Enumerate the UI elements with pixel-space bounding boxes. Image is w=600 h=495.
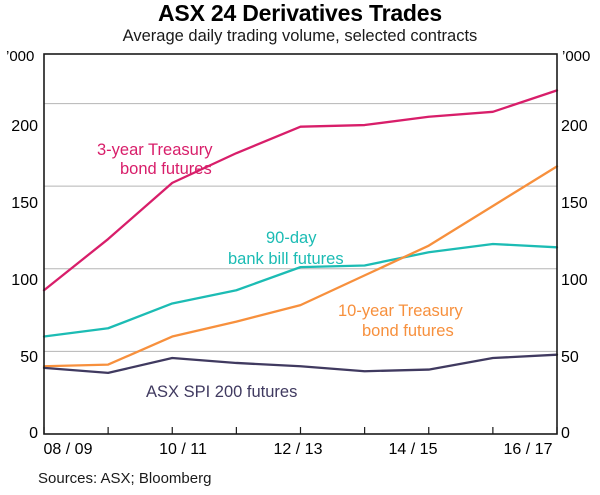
- series-label-3-year-treasury-line2: bond futures: [120, 160, 212, 179]
- y-tick-left-100: 100: [2, 273, 38, 289]
- x-tick-1213: 12 / 13: [253, 441, 343, 459]
- sources-note: Sources: ASX; Bloomberg: [38, 470, 211, 487]
- series-label-10-year-treasury-line2: bond futures: [362, 322, 454, 341]
- series-line-3: [44, 355, 557, 373]
- y-tick-left-50: 50: [2, 350, 38, 366]
- x-tick-1415: 14 / 15: [368, 441, 458, 459]
- x-tick-1011: 10 / 11: [138, 441, 228, 459]
- x-tick-0809: 08 / 09: [23, 441, 113, 459]
- y-tick-right-200: 200: [561, 119, 600, 135]
- series-label-10-year-treasury-line1: 10-year Treasury: [338, 302, 463, 321]
- series-label-asx-spi-200: ASX SPI 200 futures: [146, 383, 297, 402]
- y-tick-right-150: 150: [561, 196, 600, 212]
- y-tick-right-100: 100: [561, 273, 600, 289]
- series-label-90-day-bank-bill-line1: 90-day: [266, 229, 316, 248]
- y-tick-left-200: 200: [2, 119, 38, 135]
- chart-container: ASX 24 Derivatives Trades Average daily …: [0, 0, 600, 495]
- y-tick-right-50: 50: [561, 350, 600, 366]
- y-tick-left-150: 150: [2, 196, 38, 212]
- series-label-90-day-bank-bill-line2: bank bill futures: [228, 250, 344, 269]
- y-tick-right-0: 0: [561, 426, 600, 442]
- series-label-3-year-treasury-line1: 3-year Treasury: [97, 141, 213, 160]
- y-tick-left-0: 0: [2, 426, 38, 442]
- x-tick-1617: 16 / 17: [483, 441, 573, 459]
